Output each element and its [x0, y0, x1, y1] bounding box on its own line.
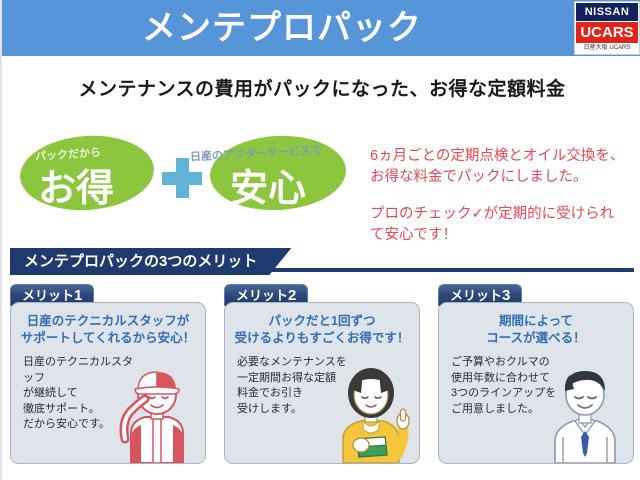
subtitle: メンテナンスの費用がパックになった、お得な定額料金	[2, 74, 640, 101]
page-title: メンテプロパック	[2, 0, 562, 56]
merit-tab-1-label: メリット	[22, 288, 74, 303]
merit-tab-2-label: メリット	[236, 288, 288, 303]
section-banner-area: メンテプロパックの3つのメリット	[2, 248, 640, 278]
woman-with-wallet-icon	[327, 359, 415, 463]
dealer-caption: 日産大阪 UCARS	[576, 43, 638, 53]
merit-card-1-heading: 日産のテクニカルスタッフが サポートしてくれるから安心！	[11, 313, 205, 347]
ucars-logo: UCARS	[576, 22, 638, 43]
section-banner-label: メンテプロパックの3つのメリット	[10, 248, 291, 275]
merit-card-3: 期間によって コースが選べる！ ご予算やおクルマの 使用年数に合わせて 3つのラ…	[438, 302, 634, 464]
saluting-technician-icon	[113, 359, 201, 463]
merit-card-2-heading: パックだと1回ずつ 受けるよりもすごくお得です！	[225, 313, 419, 347]
merit-tab-3-label: メリット	[450, 288, 502, 303]
benefit-label-otoku: お得	[38, 157, 114, 212]
page-bottom-spacer	[2, 466, 640, 480]
benefit-label-anshin: 安心	[230, 157, 306, 212]
merit-card-1: 日産のテクニカルスタッフが サポートしてくれるから安心！ 日産のテクニカルスタッ…	[10, 302, 206, 464]
red-copy-paragraph-2: プロのチェック✓が定期的に受けられ て安心です！	[370, 204, 614, 246]
nissan-logo: NISSAN	[576, 3, 638, 21]
page-header: メンテプロパック NISSAN UCARS 日産大阪 UCARS	[2, 0, 640, 56]
advertisement-page: メンテプロパック NISSAN UCARS 日産大阪 UCARS メンテナンスの…	[0, 0, 640, 480]
red-copy-paragraph-1: 6ヵ月ごとの定期点検とオイル交換を、 お得な料金でパックにしました。	[370, 146, 624, 188]
nissan-ucars-logo: NISSAN UCARS 日産大阪 UCARS	[574, 1, 640, 55]
smiling-man-icon	[541, 359, 629, 463]
merit-card-2: パックだと1回ずつ 受けるよりもすごくお得です！ 必要なメンテナンスを 一定期間…	[224, 302, 420, 464]
merit-card-3-heading: 期間によって コースが選べる！	[439, 313, 633, 347]
